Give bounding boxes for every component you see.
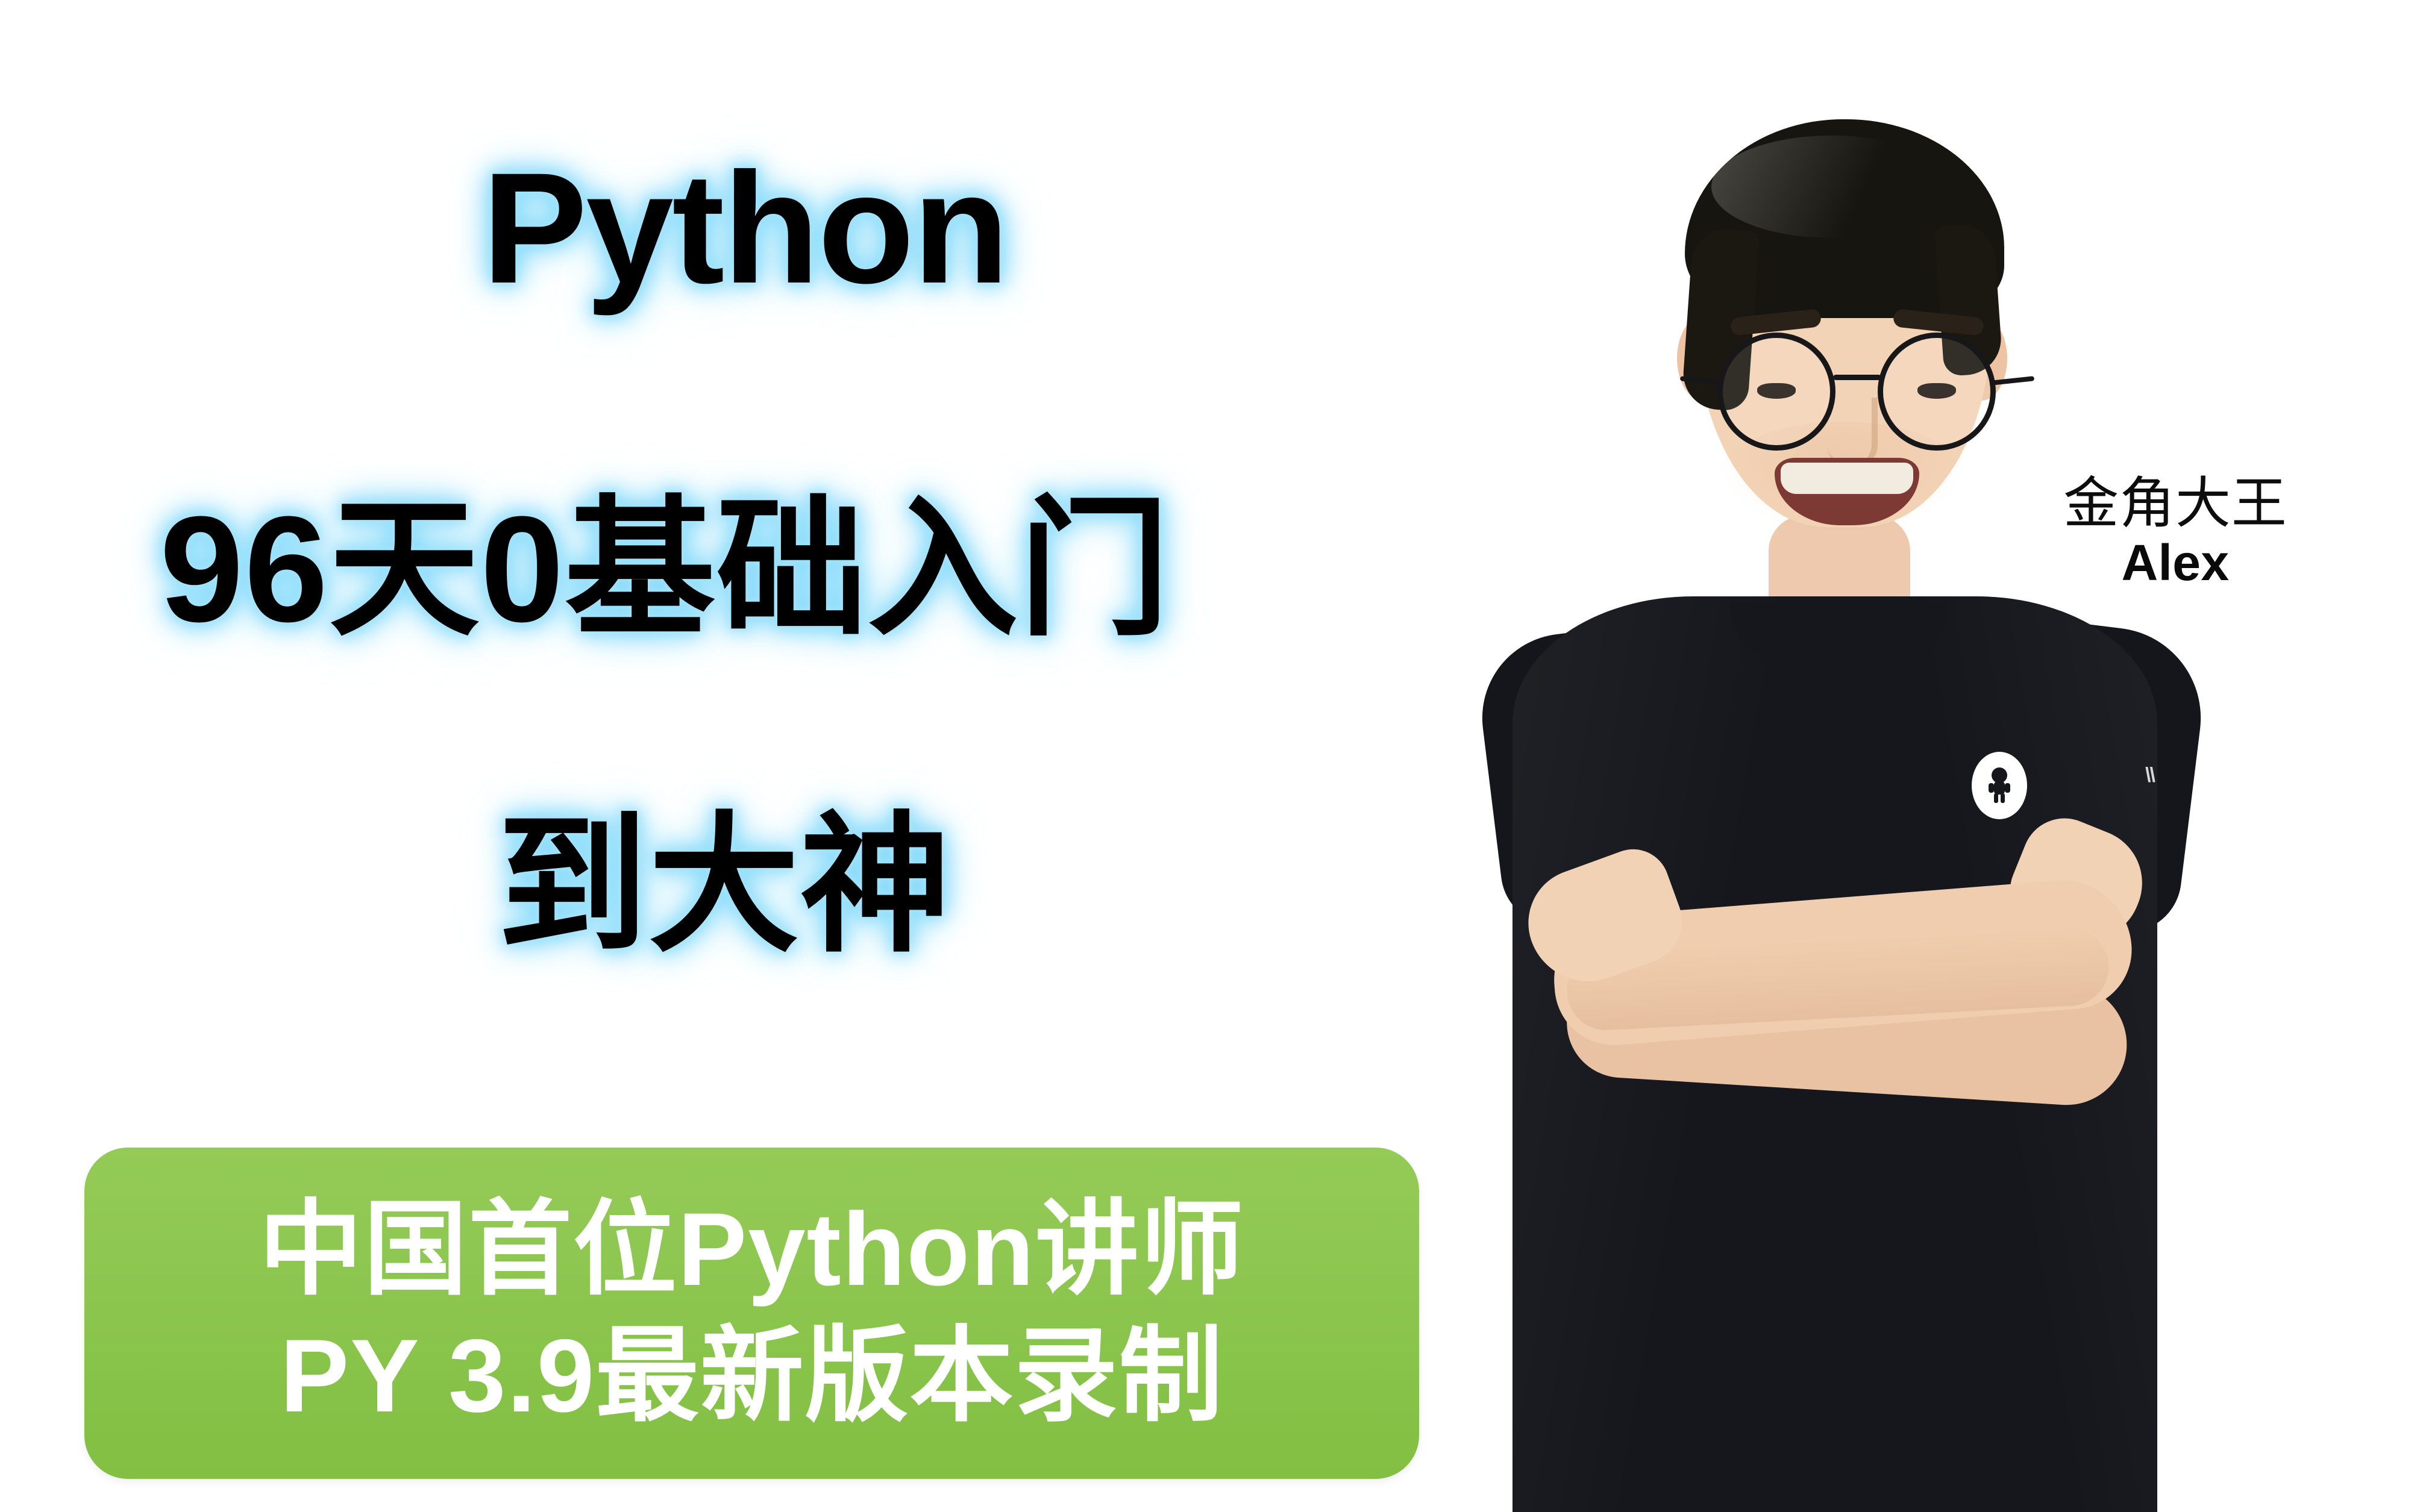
instructor-name-english: Alex — [2046, 537, 2305, 588]
badge-line-python-version: PY 3.9最新版本录制 — [280, 1313, 1224, 1440]
glasses-right-lens-icon — [1878, 333, 1996, 451]
credentials-badge: 中国首位Python讲师 PY 3.9最新版本录制 — [84, 1148, 1419, 1479]
course-poster: Python 96天0基础入门 到大神 中国首位Python讲师 PY 3.9最… — [0, 0, 2420, 1512]
badge-line-instructor-credential: 中国首位Python讲师 — [259, 1187, 1245, 1313]
instructor-name-block: 金角大王 Alex — [2046, 476, 2305, 588]
hair-highlight — [1711, 136, 1952, 238]
headline-line-outcome: 到大神 — [497, 810, 951, 961]
teeth — [1781, 463, 1913, 494]
glasses-bridge — [1833, 375, 1881, 380]
headline-line-python: Python — [482, 149, 1008, 307]
glasses-left-lens-icon — [1717, 333, 1835, 451]
headline-column: Python 96天0基础入门 到大神 中国首位Python讲师 PY 3.9最… — [0, 0, 1476, 1512]
tshirt-logo-icon — [1972, 752, 2027, 819]
instructor-photo: \\ — [1326, 0, 2420, 1512]
sleeve-mark-icon: \\ — [2145, 766, 2172, 784]
headline-line-course-duration: 96天0基础入门 — [160, 494, 1170, 645]
instructor-figure: \\ — [1326, 0, 2420, 1512]
instructor-name-chinese: 金角大王 — [2046, 476, 2305, 531]
